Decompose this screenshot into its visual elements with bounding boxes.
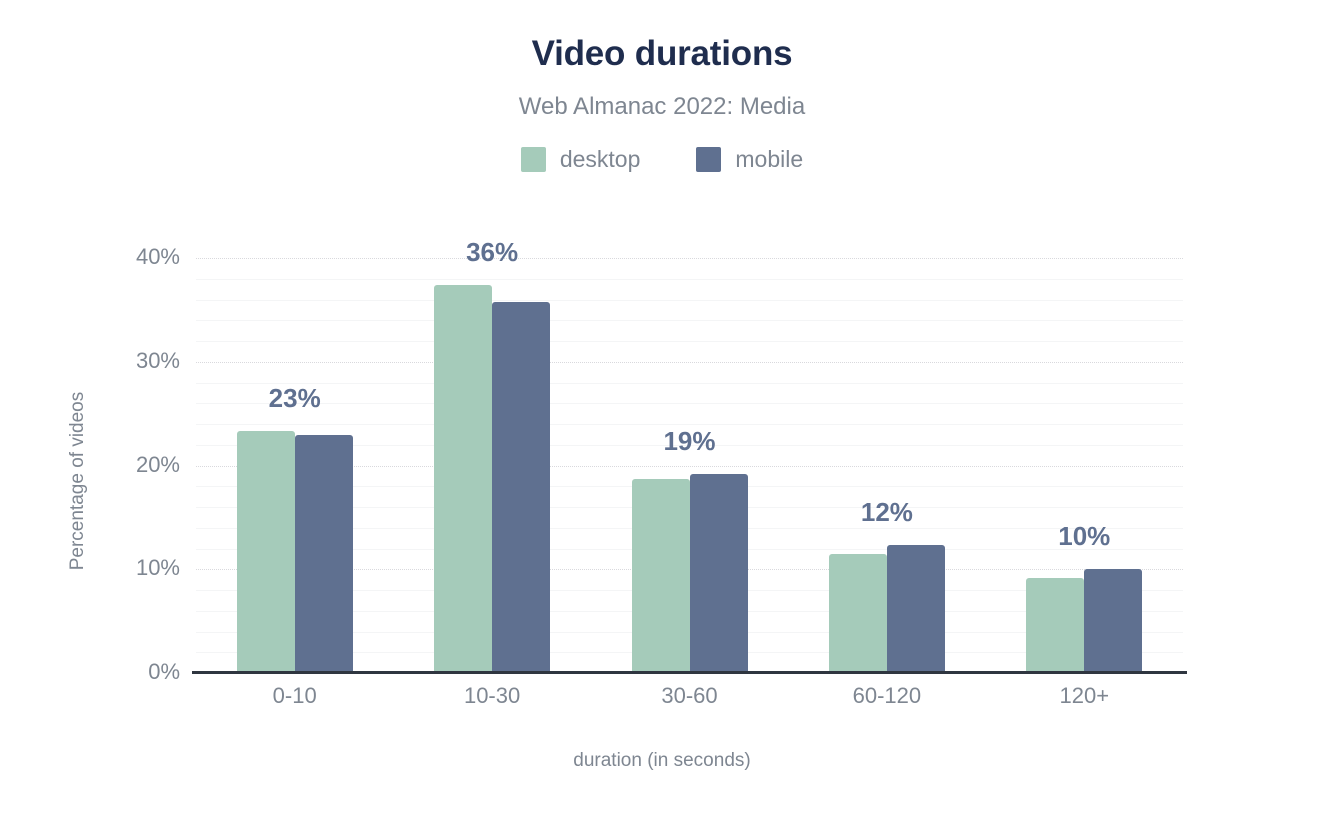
y-axis-title: Percentage of videos: [67, 341, 89, 621]
bar-value-label: 12%: [787, 497, 987, 528]
legend-swatch-desktop: [521, 147, 546, 172]
chart-title: Video durations: [0, 34, 1324, 74]
bar-desktop-60-120[interactable]: [829, 554, 887, 673]
x-tick-30-60: 30-60: [590, 683, 790, 709]
bar-value-label: 10%: [984, 521, 1184, 552]
bar-value-label: 23%: [195, 383, 395, 414]
x-tick-10-30: 10-30: [392, 683, 592, 709]
bar-mobile-10-30[interactable]: [492, 302, 550, 673]
x-axis-title: duration (in seconds): [0, 750, 1324, 772]
chart-container: Video durations Web Almanac 2022: Media …: [0, 0, 1324, 818]
x-axis-line: [192, 671, 1187, 674]
bar-mobile-60-120[interactable]: [887, 545, 945, 673]
chart-subtitle: Web Almanac 2022: Media: [0, 93, 1324, 121]
x-tick-0-10: 0-10: [195, 683, 395, 709]
bar-mobile-0-10[interactable]: [295, 435, 353, 673]
y-tick-30%: 30%: [110, 348, 180, 374]
x-tick-60-120: 60-120: [787, 683, 987, 709]
bar-desktop-120+[interactable]: [1026, 578, 1084, 673]
bar-mobile-120+[interactable]: [1084, 569, 1142, 673]
bar-group: [632, 250, 748, 673]
y-tick-0%: 0%: [110, 659, 180, 685]
chart-legend: desktop mobile: [0, 146, 1324, 173]
y-tick-20%: 20%: [110, 452, 180, 478]
bar-value-label: 36%: [392, 237, 592, 268]
legend-label-desktop: desktop: [560, 146, 641, 173]
bar-desktop-0-10[interactable]: [237, 431, 295, 673]
y-tick-40%: 40%: [110, 244, 180, 270]
bar-desktop-10-30[interactable]: [434, 285, 492, 673]
x-tick-120+: 120+: [984, 683, 1184, 709]
bar-mobile-30-60[interactable]: [690, 474, 748, 673]
plot-area: [196, 250, 1183, 673]
y-tick-10%: 10%: [110, 555, 180, 581]
legend-item-desktop[interactable]: desktop: [521, 146, 641, 173]
legend-swatch-mobile: [696, 147, 721, 172]
legend-label-mobile: mobile: [735, 146, 803, 173]
bar-value-label: 19%: [590, 426, 790, 457]
bar-group: [829, 250, 945, 673]
bar-group: [434, 250, 550, 673]
legend-item-mobile[interactable]: mobile: [696, 146, 803, 173]
bar-group: [237, 250, 353, 673]
bar-desktop-30-60[interactable]: [632, 479, 690, 673]
bar-group: [1026, 250, 1142, 673]
